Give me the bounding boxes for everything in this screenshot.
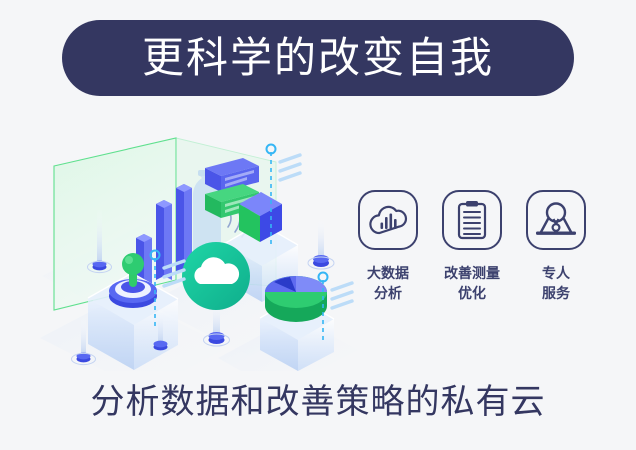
hero-illustration (28, 126, 358, 371)
feature-badge-big-data (358, 190, 418, 250)
clipboard-icon (456, 200, 488, 240)
header-banner: 更科学的改变自我 (62, 20, 574, 96)
poster-root: 更科学的改变自我 (0, 0, 636, 450)
pole-marker-right (308, 216, 334, 269)
feature-list: 大数据 分析 (352, 190, 592, 330)
cloud-bar-chart-icon (368, 203, 408, 237)
feature-badge-measurement (442, 190, 502, 250)
feature-item-measurement[interactable]: 改善测量 优化 (436, 190, 508, 304)
feature-label-service: 专人 服务 (542, 264, 570, 304)
feature-label-measurement: 改善测量 优化 (444, 264, 500, 304)
feature-item-service[interactable]: 专人 服务 (520, 190, 592, 304)
feature-item-big-data[interactable]: 大数据 分析 (352, 190, 424, 304)
page-tagline: 分析数据和改善策略的私有云 (0, 385, 636, 419)
feature-badge-service (526, 190, 586, 250)
support-person-icon (535, 202, 577, 238)
banner-title: 更科学的改变自我 (142, 37, 494, 79)
pie-chart-3d (265, 276, 327, 322)
feature-label-big-data: 大数据 分析 (367, 264, 409, 304)
